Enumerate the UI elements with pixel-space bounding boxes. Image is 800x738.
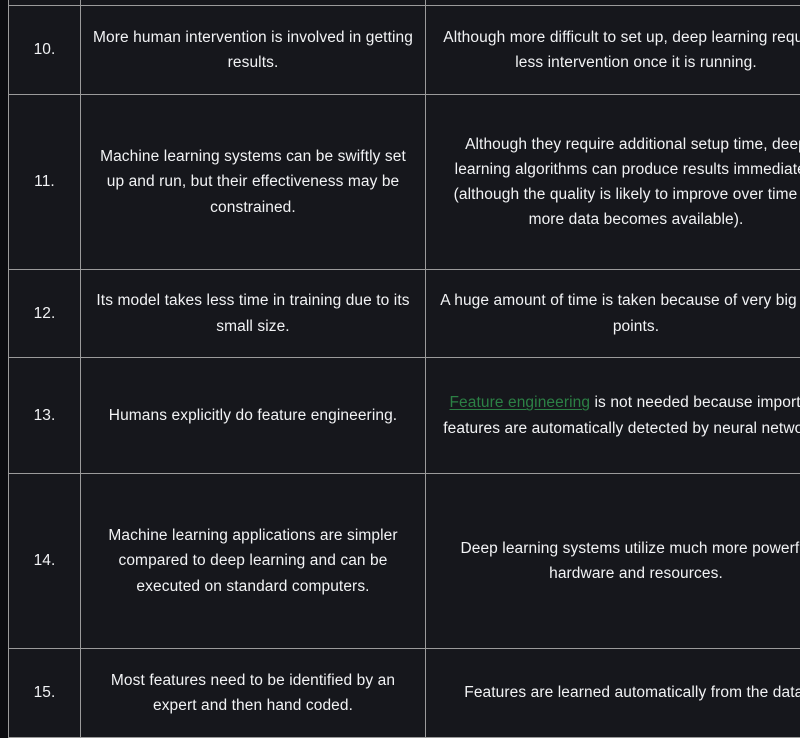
row-number-cell: 12.	[9, 270, 81, 358]
table-row: 14. Machine learning applications are si…	[9, 474, 800, 649]
table-row: 10. More human intervention is involved …	[9, 6, 800, 95]
table-row: 11. Machine learning systems can be swif…	[9, 95, 800, 270]
row-number-cell: 14.	[9, 474, 81, 649]
machine-learning-cell: Machine learning systems can be swiftly …	[81, 95, 426, 270]
row-number-cell: 13.	[9, 358, 81, 474]
comparison-table: 9. Machine learning models can be traine…	[8, 0, 800, 738]
row-number-cell: 11.	[9, 95, 81, 270]
feature-engineering-link[interactable]: Feature engineering	[449, 394, 590, 411]
machine-learning-cell: Most features need to be identified by a…	[81, 649, 426, 738]
machine-learning-cell: Its model takes less time in training du…	[81, 270, 426, 358]
comparison-table-body: 9. Machine learning models can be traine…	[9, 0, 800, 738]
page-root: 9. Machine learning models can be traine…	[0, 0, 800, 602]
deep-learning-cell: Features are learned automatically from …	[426, 649, 800, 738]
table-row: 12. Its model takes less time in trainin…	[9, 270, 800, 358]
deep-learning-cell: Deep learning systems utilize much more …	[426, 474, 800, 649]
deep-learning-cell: A huge amount of time is taken because o…	[426, 270, 800, 358]
row-number-cell: 10.	[9, 6, 81, 95]
machine-learning-cell: Machine learning applications are simple…	[81, 474, 426, 649]
table-row: 15. Most features need to be identified …	[9, 649, 800, 738]
table-row: 13. Humans explicitly do feature enginee…	[9, 358, 800, 474]
machine-learning-cell: More human intervention is involved in g…	[81, 6, 426, 95]
comparison-table-wrapper: 9. Machine learning models can be traine…	[8, 0, 774, 738]
deep-learning-cell: Although more difficult to set up, deep …	[426, 6, 800, 95]
machine-learning-cell: Humans explicitly do feature engineering…	[81, 358, 426, 474]
deep-learning-cell: Feature engineering is not needed becaus…	[426, 358, 800, 474]
row-number-cell: 15.	[9, 649, 81, 738]
deep-learning-cell: Although they require additional setup t…	[426, 95, 800, 270]
